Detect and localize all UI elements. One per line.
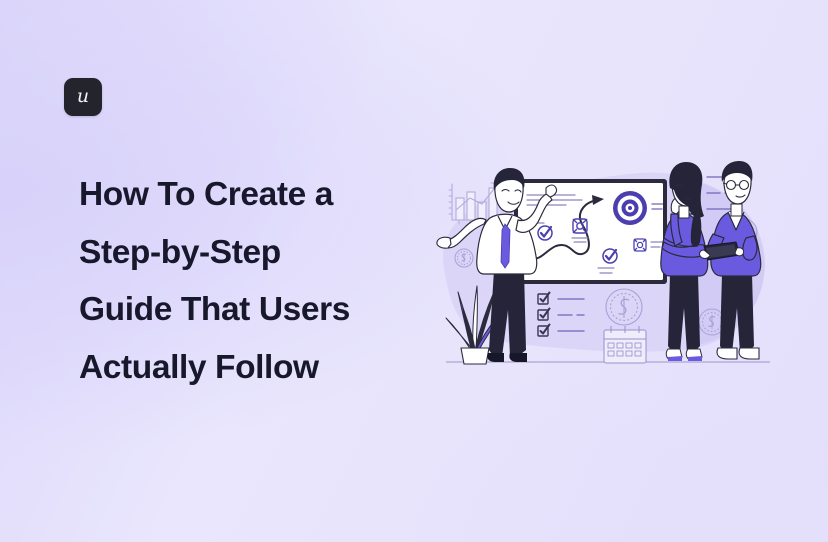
step-by-step-guide-illustration	[432, 150, 782, 390]
userpilot-logo[interactable]: u	[64, 78, 102, 116]
calendar-icon	[604, 326, 646, 363]
page-title: How To Create a Step-by-Step Guide That …	[79, 166, 409, 396]
target-bullseye-icon	[613, 191, 647, 225]
page-canvas: u How To Create a Step-by-Step Guide Tha…	[0, 0, 828, 542]
logo-letter-u: u	[77, 87, 89, 106]
whiteboard	[514, 179, 667, 284]
